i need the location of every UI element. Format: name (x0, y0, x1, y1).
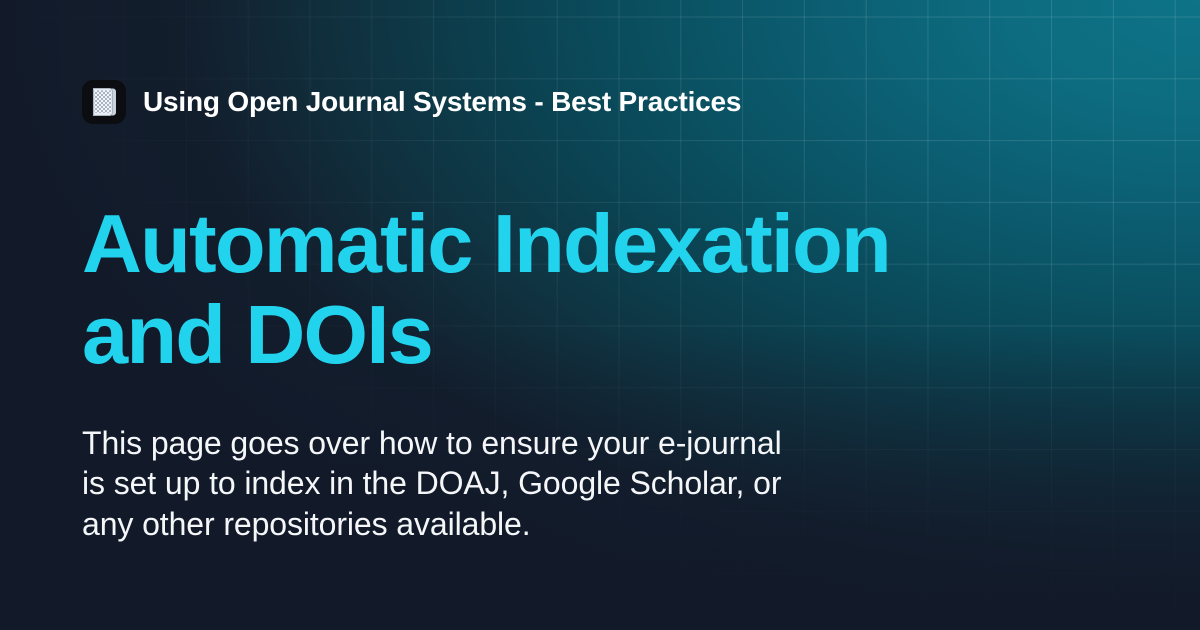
site-header: Using Open Journal Systems - Best Practi… (82, 80, 1120, 124)
site-title: Using Open Journal Systems - Best Practi… (143, 86, 741, 118)
card-content: Using Open Journal Systems - Best Practi… (0, 0, 1200, 630)
social-preview-card: Using Open Journal Systems - Best Practi… (0, 0, 1200, 630)
page-headline: Automatic Indexation and DOIs (82, 198, 982, 381)
book-checkered-icon (82, 80, 126, 124)
page-description: This page goes over how to ensure your e… (82, 423, 812, 545)
